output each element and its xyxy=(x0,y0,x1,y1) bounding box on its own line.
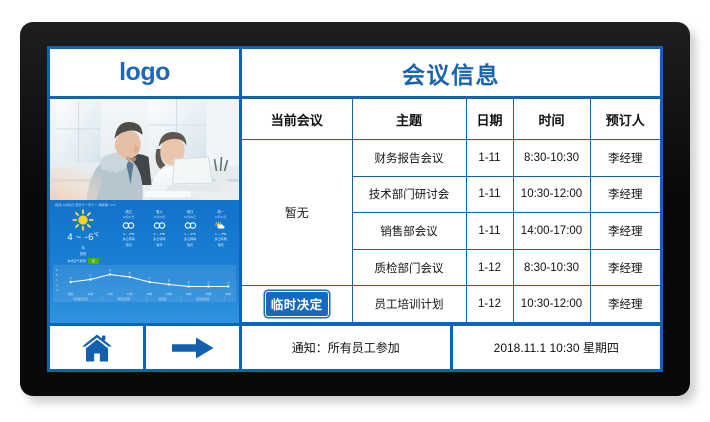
cell-subject: 技术部门研讨会 xyxy=(352,176,466,213)
svg-text:后天白天晴: 后天白天晴 xyxy=(196,297,209,301)
forecast-day-temp: 4 ~ -5℃ xyxy=(123,232,134,236)
weather-main: 4 ~ -6℃ 晴 西风 本市空气质量 良 xyxy=(53,208,236,264)
right-panel: 会议信息 当前会议 主题 日期 时间 预订人 xyxy=(242,49,660,369)
svg-text:5: 5 xyxy=(56,268,58,272)
forecast-day-date: 12月10日 xyxy=(215,215,227,219)
forecast-day-temp: 3 ~ -5℃ xyxy=(154,232,165,236)
cell-subject: 财务报告会议 xyxy=(352,140,466,177)
forecast-day[interactable]: 周五 12月07日 4 ~ -5℃ 多云转晴 南风 xyxy=(113,208,144,264)
forecast-day-wind: 南风 xyxy=(156,242,162,247)
column-header-booked-by: 预订人 xyxy=(590,99,660,140)
cell-booked-by: 李经理 xyxy=(590,213,660,250)
monitor-bezel: logo xyxy=(20,22,690,396)
cloudy-icon xyxy=(184,219,197,231)
cell-date: 1-11 xyxy=(466,213,513,250)
cell-subject: 销售部会议 xyxy=(352,213,466,250)
forecast-day-name: 周五 xyxy=(126,209,132,214)
datetime-text: 2018.11.1 10:30 星期四 xyxy=(453,326,661,369)
cell-date: 1-11 xyxy=(466,176,513,213)
today-condition: 晴 xyxy=(82,245,85,250)
page-title-panel: 会议信息 xyxy=(242,49,660,99)
next-page-button[interactable] xyxy=(146,326,239,369)
page-title: 会议信息 xyxy=(402,56,500,90)
svg-text:明天夜..: 明天夜.. xyxy=(159,297,168,301)
svg-text:4°: 4° xyxy=(109,269,111,272)
svg-text:-3: -3 xyxy=(56,288,59,292)
cloudy-icon xyxy=(122,219,135,231)
partly-sunny-icon xyxy=(214,219,227,231)
column-header-date: 日期 xyxy=(466,99,513,140)
footer-bar: 通知：所有员工参加 2018.11.1 10:30 星期四 xyxy=(242,323,660,369)
screen: logo xyxy=(47,46,663,372)
svg-text:23时: 23时 xyxy=(166,292,172,296)
forecast-day-condition: 多云转晴 xyxy=(184,236,196,241)
cell-time: 8:30-10:30 xyxy=(513,249,590,286)
forecast-day[interactable]: 周一 12月10日 xyxy=(205,208,236,264)
nav-bar xyxy=(50,323,239,369)
svg-text:1: 1 xyxy=(56,278,58,282)
svg-text:14时: 14时 xyxy=(107,292,113,296)
trend-line: 53 1-1-3 xyxy=(53,265,236,302)
forecast-day-wind: 南风 xyxy=(126,242,132,247)
aqi-label: 本市空气质量 xyxy=(67,258,86,263)
cell-booked-by: 李经理 xyxy=(590,140,660,177)
svg-text:明天白天晴: 明天白天晴 xyxy=(117,297,130,301)
cell-booked-by: 李经理 xyxy=(590,286,660,323)
forecast-day-condition: 多云转晴 xyxy=(123,236,135,241)
cell-date: 1-12 xyxy=(466,249,513,286)
svg-text:02时: 02时 xyxy=(186,292,192,296)
svg-text:-1°: -1° xyxy=(187,281,190,284)
current-meeting-cell: 暂无 xyxy=(242,140,352,286)
logo-panel[interactable]: logo xyxy=(50,49,239,99)
svg-text:1°: 1° xyxy=(70,277,72,280)
sun-icon xyxy=(72,209,94,231)
signage-app: logo xyxy=(50,49,660,369)
weather-today: 4 ~ -6℃ 晴 西风 本市空气质量 良 xyxy=(53,208,113,264)
svg-text:2°: 2° xyxy=(89,274,91,277)
weather-forecast: 周五 12月07日 4 ~ -5℃ 多云转晴 南风 xyxy=(113,208,236,264)
svg-text:05时: 05时 xyxy=(206,292,212,296)
today-wind: 西风 xyxy=(80,251,86,256)
cell-date: 1-12 xyxy=(466,286,513,323)
home-icon xyxy=(81,333,113,363)
office-photo-illustration xyxy=(50,99,239,200)
home-button[interactable] xyxy=(50,326,146,369)
forecast-day-temp: 4 ~ -3℃ xyxy=(215,232,226,236)
cell-date: 1-11 xyxy=(466,140,513,177)
logo-text: logo xyxy=(119,58,170,87)
cloudy-icon xyxy=(153,219,166,231)
cell-time: 14:00-17:00 xyxy=(513,213,590,250)
media-stack: 周四 12月6日 农历十一月十一 晴转阴 -1°C xyxy=(50,99,239,323)
meeting-table-wrap: 当前会议 主题 日期 时间 预订人 暂无 财务报告会议 xyxy=(242,99,660,323)
cell-subject: 员工培训计划 xyxy=(352,286,466,323)
forecast-day[interactable]: 周六 12月08日 3 ~ -5℃ 多云转晴 南风 xyxy=(144,208,175,264)
cell-booked-by: 李经理 xyxy=(590,176,660,213)
forecast-day-temp: 4 ~ -4℃ xyxy=(184,232,195,236)
column-header-subject: 主题 xyxy=(352,99,466,140)
forecast-day-date: 12月09日 xyxy=(184,215,196,219)
meeting-table: 当前会议 主题 日期 时间 预订人 暂无 财务报告会议 xyxy=(242,99,660,323)
table-row[interactable]: 临时决定 员工培训计划 1-12 10:30-12:00 李经理 xyxy=(242,286,660,323)
aqi-badge: 良 xyxy=(88,258,99,264)
svg-text:08时: 08时 xyxy=(225,292,231,296)
cell-time: 8:30-10:30 xyxy=(513,140,590,177)
forecast-day-condition: 多云转阴 xyxy=(214,236,226,241)
table-row[interactable]: 暂无 财务报告会议 1-11 8:30-10:30 李经理 xyxy=(242,140,660,177)
forecast-day-name: 周一 xyxy=(217,209,223,214)
left-panel: logo xyxy=(50,49,242,369)
svg-text:-1°: -1° xyxy=(227,281,230,284)
svg-text:1°: 1° xyxy=(148,277,150,280)
cell-time: 10:30-12:00 xyxy=(513,176,590,213)
today-temp-unit: ℃ xyxy=(94,232,99,237)
air-quality-row: 本市空气质量 良 xyxy=(67,258,99,264)
cell-time: 10:30-12:00 xyxy=(513,286,590,323)
cell-booked-by: 李经理 xyxy=(590,249,660,286)
svg-text:今天夜间多云: 今天夜间多云 xyxy=(73,297,89,301)
forecast-day-name: 周日 xyxy=(187,209,193,214)
arrow-right-icon xyxy=(172,336,214,360)
temporary-decision-cell[interactable]: 临时决定 xyxy=(242,286,352,323)
svg-text:20时: 20时 xyxy=(147,292,153,296)
cell-subject: 质检部门会议 xyxy=(352,249,466,286)
svg-text:0°: 0° xyxy=(168,279,170,282)
forecast-day-date: 12月07日 xyxy=(123,215,135,219)
today-temp-value: 4 ~ -6 xyxy=(67,232,93,243)
svg-text:3: 3 xyxy=(56,273,58,277)
svg-text:11时: 11时 xyxy=(88,292,94,296)
forecast-day-condition: 多云转晴 xyxy=(153,236,165,241)
forecast-day-name: 周六 xyxy=(156,209,162,214)
svg-text:-1: -1 xyxy=(56,283,59,287)
forecast-day-date: 12月08日 xyxy=(153,215,165,219)
office-photo xyxy=(50,99,239,200)
weather-trend-chart[interactable]: 53 1-1-3 xyxy=(53,265,236,302)
weather-widget[interactable]: 周四 12月6日 农历十一月十一 晴转阴 -1°C xyxy=(50,200,239,323)
table-header-row: 当前会议 主题 日期 时间 预订人 xyxy=(242,99,660,140)
forecast-day-wind: 南风 xyxy=(218,242,224,247)
notice-text: 通知：所有员工参加 xyxy=(242,326,453,369)
today-temperature: 4 ~ -6℃ xyxy=(67,232,99,243)
status-badge[interactable]: 临时决定 xyxy=(265,291,329,317)
svg-text:3°: 3° xyxy=(129,272,131,275)
svg-text:-1°: -1° xyxy=(207,281,210,284)
current-meeting-value: 暂无 xyxy=(285,206,309,220)
column-header-current-meeting: 当前会议 xyxy=(242,99,352,140)
forecast-day[interactable]: 周日 12月09日 4 ~ -4℃ 多云转晴 南风 xyxy=(175,208,206,264)
forecast-day-wind: 南风 xyxy=(187,242,193,247)
svg-text:现在: 现在 xyxy=(68,292,74,296)
app-body: logo xyxy=(50,49,660,369)
svg-text:17时: 17时 xyxy=(127,292,133,296)
column-header-time: 时间 xyxy=(513,99,590,140)
